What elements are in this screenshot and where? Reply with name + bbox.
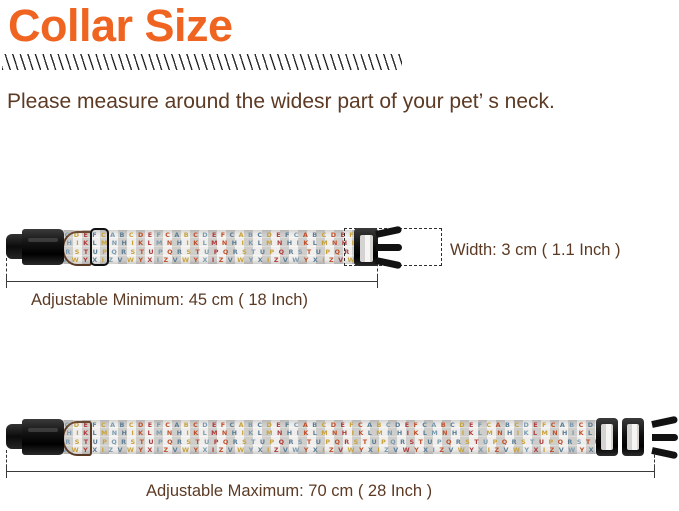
dimension-line-minimum (6, 281, 378, 282)
prong-buckle-window (360, 235, 373, 262)
side-release-buckle-icon (6, 226, 64, 268)
prong-2 (652, 434, 678, 441)
dimension-tick-left-min (6, 275, 7, 288)
prong-buckle-body (354, 228, 378, 266)
prong-2 (376, 244, 402, 251)
collar-webbing-maximum: F C A B C D E F C A B C D E F C A B C D … (28, 420, 618, 454)
page-title: Collar Size (8, 0, 233, 54)
minimum-length-label: Adjustable Minimum: 45 cm ( 18 Inch) (31, 290, 308, 310)
d-ring-icon (62, 421, 92, 456)
slider-adjuster-icon (90, 228, 109, 266)
webbing-alphabet-print: F C A B C D E F C A B C D E F C A B C D … (28, 420, 618, 454)
d-ring-icon (62, 231, 92, 266)
prong-3 (375, 257, 402, 269)
dimension-tick-left-max (6, 465, 7, 478)
webbing-row: K L M N H I K L M N H I K L M N H I K L … (28, 429, 618, 437)
width-label: Width: 3 cm ( 1.1 Inch ) (450, 240, 621, 260)
collar-maximum: F C A B C D E F C A B C D E F C A B C D … (6, 420, 666, 454)
webbing-row: T U P Q R S T U P Q R S T U P Q R S T U … (28, 438, 618, 446)
prong-1 (375, 226, 402, 238)
collar-minimum: F C A B C D E F C A B C D E F C A B C D … (6, 230, 386, 264)
prong-buckle-icon (630, 416, 679, 458)
webbing-row: F C A B C D E F C A B C D E F C A B C D … (28, 421, 618, 429)
instruction-text: Please measure around the widesr part of… (7, 88, 555, 116)
buckle-square-1 (596, 418, 618, 456)
maximum-length-label: Adjustable Maximum: 70 cm ( 28 Inch ) (146, 481, 432, 501)
buckle-body (22, 419, 64, 455)
buckle-slot (28, 238, 58, 242)
buckle-body (22, 229, 64, 265)
prong-1 (651, 416, 678, 428)
webbing-row: Y X I Z V W Y X I Z V W Y X I Z V W Y X … (28, 446, 618, 454)
side-release-buckle-icon (6, 416, 64, 458)
prong-3 (651, 447, 678, 459)
buckle-slot (28, 428, 58, 432)
dimension-line-maximum (6, 471, 655, 472)
prong-buckle-icon (354, 226, 406, 268)
hatched-divider (2, 54, 402, 70)
buckle-window-1 (601, 424, 613, 450)
dimension-tick-right-min (377, 275, 378, 288)
dimension-tick-right-max (654, 465, 655, 478)
